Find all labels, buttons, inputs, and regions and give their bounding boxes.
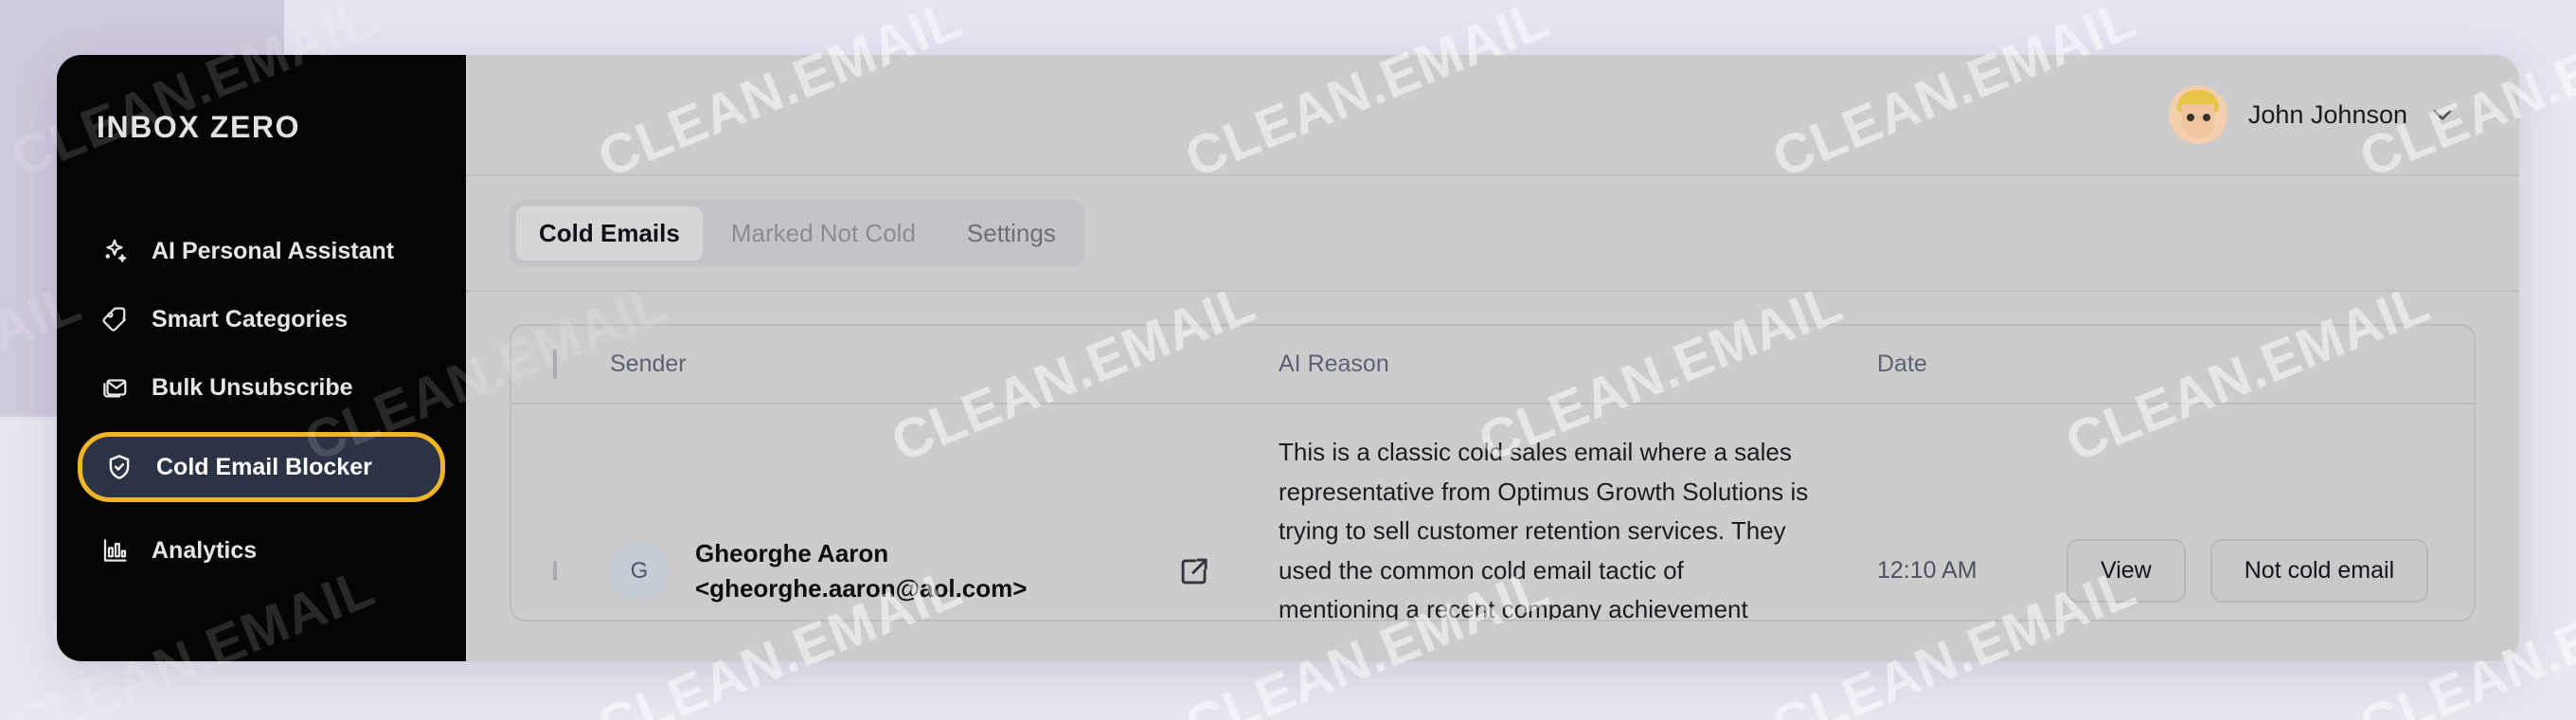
user-menu[interactable]: John Johnson <box>2169 85 2457 144</box>
bar-chart-icon <box>98 534 131 567</box>
view-button[interactable]: View <box>2066 539 2186 603</box>
sidebar-nav: AI Personal Assistant Smart Categories <box>57 219 466 583</box>
sender-name: Gheorghe Aaron <box>695 539 888 567</box>
tab-cold-emails[interactable]: Cold Emails <box>516 207 703 261</box>
select-all-checkbox[interactable] <box>553 349 557 379</box>
sidebar-item-analytics[interactable]: Analytics <box>78 518 445 583</box>
shield-check-icon <box>103 451 135 483</box>
table-header-row: Sender AI Reason Date <box>511 326 2474 404</box>
header-actions <box>2066 326 2474 404</box>
sidebar-item-label: AI Personal Assistant <box>152 238 394 265</box>
tab-settings[interactable]: Settings <box>944 207 1079 261</box>
table-body: G Gheorghe Aaron <gheorghe.aaron@aol.com… <box>511 404 2474 621</box>
tag-icon <box>98 303 131 335</box>
row-ai-reason-cell: This is a classic cold sales email where… <box>1279 404 1877 621</box>
external-link-icon[interactable] <box>1178 555 1279 587</box>
sidebar-item-label: Cold Email Blocker <box>156 454 372 481</box>
tab-group: Cold Emails Marked Not Cold Settings <box>510 200 1085 267</box>
page-root: INBOX ZERO AI Personal Assistant <box>0 0 2576 720</box>
sparkles-icon <box>98 235 131 267</box>
sidebar-item-label: Smart Categories <box>152 306 348 333</box>
tab-marked-not-cold[interactable]: Marked Not Cold <box>708 207 939 261</box>
sender-email: <gheorghe.aaron@aol.com> <box>695 574 1027 603</box>
header-sender[interactable]: Sender <box>610 326 1178 404</box>
sidebar-item-bulk-unsubscribe[interactable]: Bulk Unsubscribe <box>78 355 445 420</box>
header-open-spacer <box>1178 326 1279 404</box>
avatar-face <box>2182 104 2214 138</box>
sidebar: INBOX ZERO AI Personal Assistant <box>57 55 466 661</box>
not-cold-email-button[interactable]: Not cold email <box>2210 539 2428 603</box>
chevron-down-icon[interactable] <box>2428 100 2457 129</box>
cold-emails-table: Sender AI Reason Date <box>511 326 2474 621</box>
app-window: INBOX ZERO AI Personal Assistant <box>57 55 2519 661</box>
avatar-eye-right <box>2203 114 2210 121</box>
row-actions-cell: View Not cold email <box>2066 404 2474 621</box>
sender-identity: Gheorghe Aaron <gheorghe.aaron@aol.com> <box>695 536 1027 606</box>
cold-emails-table-card: Sender AI Reason Date <box>510 324 2476 621</box>
row-checkbox[interactable] <box>553 561 557 581</box>
sidebar-item-ai-personal-assistant[interactable]: AI Personal Assistant <box>78 219 445 283</box>
row-open-cell <box>1178 404 1279 621</box>
header-ai-reason[interactable]: AI Reason <box>1279 326 1877 404</box>
sidebar-item-cold-email-blocker[interactable]: Cold Email Blocker <box>78 432 445 502</box>
ai-reason-text: This is a classic cold sales email where… <box>1279 405 1877 621</box>
avatar-eye-left <box>2187 114 2194 121</box>
date-text: 12:10 AM <box>1877 557 1977 584</box>
mail-icon <box>98 371 131 404</box>
brand-logo: INBOX ZERO <box>57 93 466 145</box>
sidebar-item-label: Bulk Unsubscribe <box>152 374 353 402</box>
row-date-cell: 12:10 AM <box>1877 404 2066 621</box>
user-name-label: John Johnson <box>2248 100 2407 130</box>
table-container: Sender AI Reason Date <box>466 292 2519 661</box>
table-header: Sender AI Reason Date <box>511 326 2474 404</box>
row-select-cell <box>511 404 610 621</box>
header-select-all <box>511 326 610 404</box>
header-date[interactable]: Date <box>1877 326 2066 404</box>
content-area: John Johnson Cold Emails Marked Not Cold… <box>466 55 2519 661</box>
sender-avatar: G <box>610 542 669 601</box>
sidebar-item-smart-categories[interactable]: Smart Categories <box>78 287 445 351</box>
user-avatar <box>2169 85 2227 144</box>
table-row[interactable]: G Gheorghe Aaron <gheorghe.aaron@aol.com… <box>511 404 2474 621</box>
top-bar: John Johnson <box>466 55 2519 176</box>
sidebar-item-label: Analytics <box>152 537 257 565</box>
row-sender-cell: G Gheorghe Aaron <gheorghe.aaron@aol.com… <box>610 404 1178 621</box>
tab-bar: Cold Emails Marked Not Cold Settings <box>466 176 2519 292</box>
